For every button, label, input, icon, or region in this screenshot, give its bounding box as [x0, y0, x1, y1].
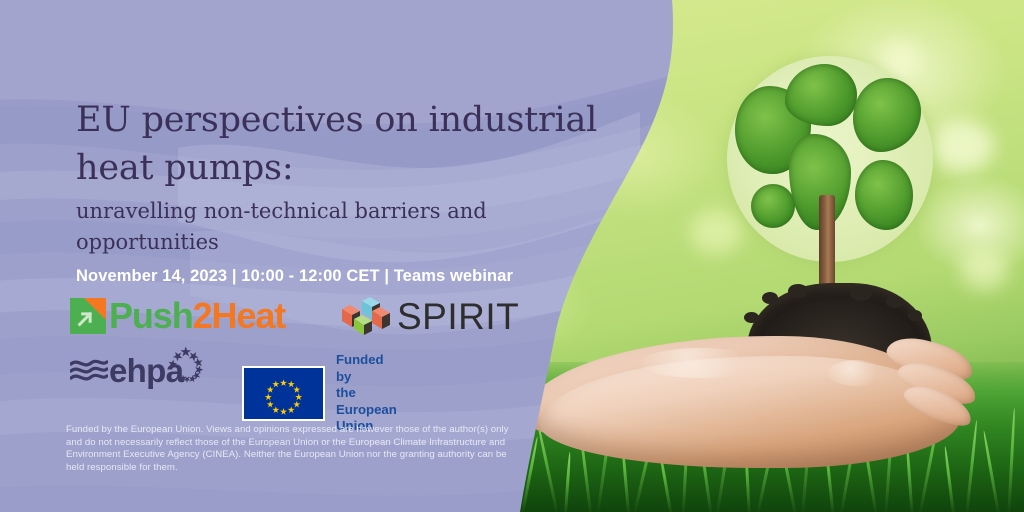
ehpa-star-circle-icon [156, 344, 214, 396]
soil-clod [762, 292, 778, 304]
soil-clod [744, 312, 759, 323]
push2heat-word-2heat: 2Heat [193, 295, 286, 336]
push2heat-square-arrow-up-right-icon [70, 298, 106, 334]
spirit-logo[interactable]: SPIRIT [340, 293, 519, 339]
subtitle-line-2: opportunities [76, 227, 576, 258]
knuckle-highlight [828, 360, 884, 386]
panel-content: EU perspectives on industrial heat pumps… [0, 0, 700, 512]
page-subtitle: unravelling non-technical barriers and o… [76, 196, 576, 258]
webinar-banner: EU perspectives on industrial heat pumps… [0, 0, 1024, 512]
funding-disclaimer: Funded by the European Union. Views and … [66, 424, 522, 474]
title-line-2: heat pumps: [76, 144, 656, 192]
title-line-1: EU perspectives on industrial [76, 96, 656, 144]
soil-clod [788, 284, 808, 298]
spirit-isometric-blocks-icon [340, 295, 392, 337]
bokeh-spot [930, 120, 994, 172]
spirit-wordmark: SPIRIT [397, 298, 519, 335]
eu-funding-line-1: Funded by [336, 352, 397, 385]
event-details: November 14, 2023 | 10:00 - 12:00 CET | … [76, 267, 513, 286]
push2heat-wordmark: Push2Heat [109, 298, 285, 334]
soil-clod [850, 286, 872, 301]
subtitle-line-1: unravelling non-technical barriers and [76, 196, 576, 227]
push2heat-logo[interactable]: Push2Heat [70, 292, 285, 340]
page-title: EU perspectives on industrial heat pumps… [76, 96, 656, 192]
eu-flag-icon [242, 366, 325, 421]
bokeh-spot [960, 250, 1008, 290]
ehpa-waves-icon [70, 358, 108, 384]
bokeh-spot [880, 40, 920, 74]
eu-funding-text: Funded by the European Union [336, 352, 397, 435]
eu-funding-logo[interactable]: Funded by the European Union [242, 352, 397, 435]
push2heat-word-push: Push [109, 295, 193, 336]
soil-clod [908, 310, 922, 321]
soil-clod [886, 296, 903, 308]
